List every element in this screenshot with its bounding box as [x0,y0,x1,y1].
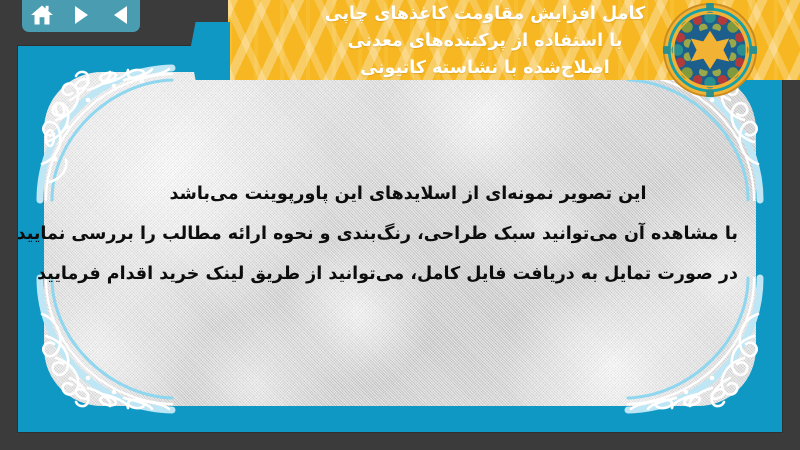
home-button[interactable] [27,3,57,27]
body-line-1: این تصویر نمونه‌ای از اسلایدهای این پاور… [78,174,738,214]
body-line-3: در صورت تمایل به دریافت فایل کامل، می‌تو… [78,254,738,294]
body-line-2: با مشاهده آن می‌توانید سبک طراحی، رنگ‌بن… [78,214,738,254]
slide-canvas: این تصویر نمونه‌ای از اسلایدهای این پاور… [18,46,782,432]
triangle-left-icon [114,6,127,24]
title-line-3: اصلاح‌شده با نشاسته کاتیونی [242,55,728,80]
next-slide-button[interactable] [66,3,96,27]
home-icon [30,4,54,26]
persian-medallion-ornament [662,2,758,98]
banner-arrow-tab [190,22,230,80]
triangle-right-icon [75,6,88,24]
slide-body-text: این تصویر نمونه‌ای از اسلایدهای این پاور… [78,174,738,294]
title-line-1: کامل افزایش مقاومت کاغذهای چاپی [242,1,728,28]
navigation-toolbar [22,0,140,32]
slide-viewer: این تصویر نمونه‌ای از اسلایدهای این پاور… [0,0,800,450]
title-line-2: با استفاده از پرکننده‌های معدنی [242,28,728,55]
previous-slide-button[interactable] [105,3,135,27]
